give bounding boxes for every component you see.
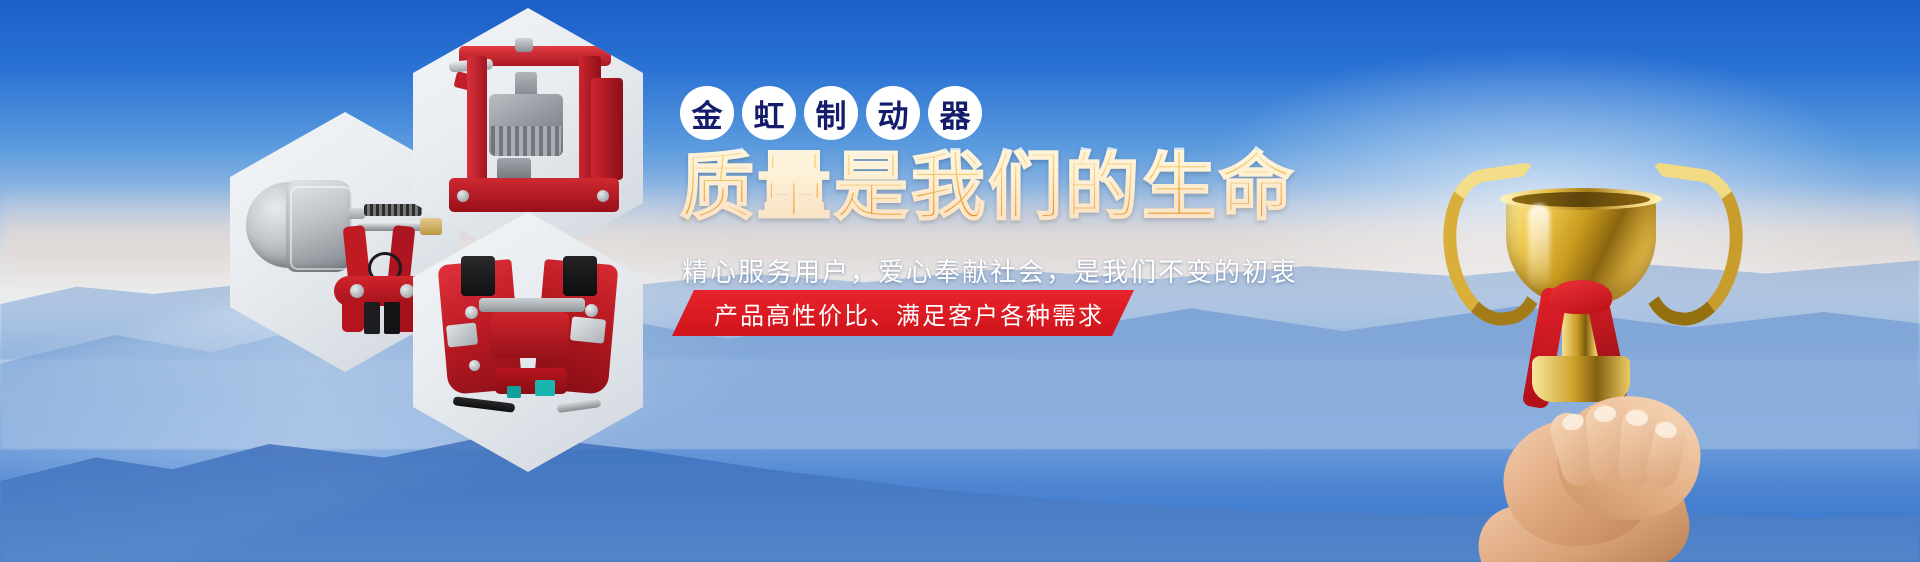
brake-pad-right: [384, 302, 400, 334]
ribbon-callout: 产品高性价比、满足客户各种需求: [672, 290, 1134, 336]
base-plate: [449, 178, 619, 212]
cylinder-cap-secondary: [507, 386, 521, 398]
hands-holding-trophy: [1460, 378, 1728, 562]
air-port: [348, 208, 365, 219]
caliper-bolt-c: [469, 360, 480, 371]
friction-plate-left: [461, 256, 495, 296]
actuator-rod: [453, 396, 516, 412]
top-bolt: [515, 38, 533, 52]
metal-tag-right: [570, 316, 606, 343]
electro-hydraulic-thruster-brake-image: [441, 38, 636, 238]
chamber-band: [290, 186, 352, 270]
metal-tag-left: [446, 322, 478, 347]
caliper-bolt-b: [585, 304, 598, 317]
rod-end: [420, 218, 442, 235]
subtitle-slogan: 精心服务用户，爱心奉献社会，是我们不变的初衷: [682, 252, 1298, 289]
pivot-pin-right: [400, 284, 414, 298]
friction-plate-right: [563, 256, 597, 296]
brand-char-1: 金: [680, 86, 734, 140]
tail-pin: [557, 399, 602, 413]
cross-bar: [479, 298, 585, 312]
base-bolt-left: [457, 190, 469, 202]
base-bolt-right: [597, 190, 609, 202]
cooling-fins: [491, 126, 561, 156]
product-hexagon-cluster: [228, 0, 648, 440]
gold-trophy: [1420, 142, 1750, 562]
brake-pad-left: [364, 302, 380, 334]
brand-char-2: 虹: [742, 86, 796, 140]
promo-banner: 金 虹 制 动 器 质量是我们的生命 精心服务用户，爱心奉献社会，是我们不变的初…: [0, 0, 1920, 562]
brand-char-4: 动: [866, 86, 920, 140]
ribbon-text: 产品高性价比、满足客户各种需求: [714, 296, 1104, 331]
brand-char-5: 器: [928, 86, 982, 140]
brand-char-3: 制: [804, 86, 858, 140]
hydraulic-caliper-disc-brake-image: [439, 252, 629, 432]
trophy-highlight: [1528, 204, 1550, 290]
cylinder-cap: [535, 380, 555, 396]
caliper-bolt-a: [465, 306, 478, 319]
side-plate: [591, 78, 623, 180]
headline-slogan: 质量是我们的生命: [680, 150, 1296, 224]
pivot-pin-left: [350, 284, 364, 298]
caliper-bridge: [491, 312, 569, 358]
brand-name: 金 虹 制 动 器: [680, 86, 982, 140]
hydraulic-cylinder: [495, 368, 567, 394]
brake-shoe-left: [342, 300, 364, 332]
terminal-box: [497, 158, 531, 180]
red-ribbon-knot: [1550, 280, 1612, 314]
return-spring: [364, 204, 422, 216]
frame-post-left: [467, 56, 487, 186]
